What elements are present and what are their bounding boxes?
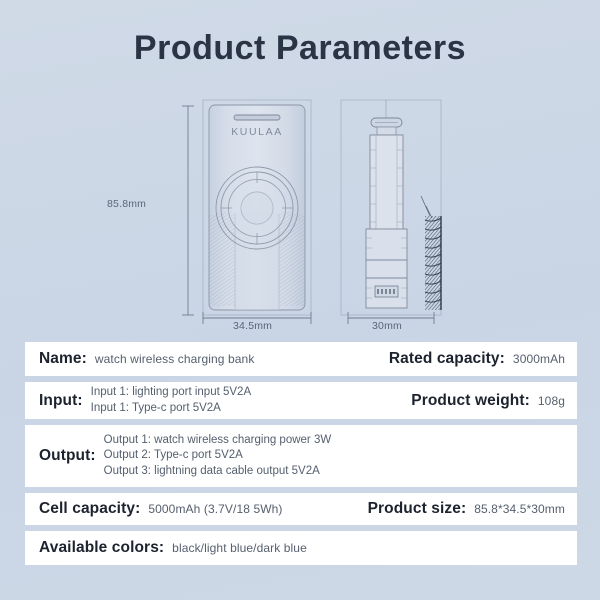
product-parameters-page: Product Parameters: [0, 0, 600, 600]
table-row: Input: Input 1: lighting port input 5V2A…: [25, 382, 577, 419]
spec-label-cell-capacity: Cell capacity:: [39, 500, 140, 518]
spec-value-cell-capacity: 5000mAh (3.7V/18 5Wh): [148, 502, 282, 516]
spec-value-available-colors: black/light blue/dark blue: [172, 541, 307, 555]
spec-cell-input: Input: Input 1: lighting port input 5V2A…: [25, 385, 334, 416]
spec-cell-available-colors: Available colors: black/light blue/dark …: [25, 539, 577, 557]
table-row: Output: Output 1: watch wireless chargin…: [25, 425, 577, 487]
product-diagram: KUULAA: [0, 88, 600, 333]
spec-value-product-size: 85.8*34.5*30mm: [474, 502, 565, 516]
height-dimension-label: 85.8mm: [107, 198, 146, 210]
spec-label-product-weight: Product weight:: [411, 392, 530, 410]
spec-value-output: Output 1: watch wireless charging power …: [104, 433, 332, 480]
spec-cell-product-weight: Product weight: 108g: [334, 392, 577, 410]
brand-logo-text: KUULAA: [231, 126, 283, 138]
spec-value-product-weight: 108g: [538, 394, 565, 408]
spec-cell-product-size: Product size: 85.8*34.5*30mm: [334, 500, 577, 518]
table-row: Name: watch wireless charging bank Rated…: [25, 342, 577, 376]
diagram-drawing: KUULAA: [0, 88, 600, 338]
spec-label-rated-capacity: Rated capacity:: [389, 350, 505, 368]
width-dimension-label: 34.5mm: [233, 320, 272, 332]
spec-cell-rated-capacity: Rated capacity: 3000mAh: [334, 350, 577, 368]
spec-table: Name: watch wireless charging bank Rated…: [25, 342, 577, 571]
spec-label-product-size: Product size:: [368, 500, 467, 518]
depth-dimension-label: 30mm: [372, 320, 402, 332]
height-dimension-line: [182, 106, 194, 315]
spec-cell-cell-capacity: Cell capacity: 5000mAh (3.7V/18 5Wh): [25, 500, 334, 518]
spec-label-output: Output:: [39, 447, 96, 465]
spec-label-available-colors: Available colors:: [39, 539, 164, 557]
spec-label-name: Name:: [39, 350, 87, 368]
spec-label-input: Input:: [39, 392, 83, 410]
table-row: Cell capacity: 5000mAh (3.7V/18 5Wh) Pro…: [25, 493, 577, 525]
spec-value-rated-capacity: 3000mAh: [513, 352, 565, 366]
spec-value-input: Input 1: lighting port input 5V2A Input …: [91, 385, 251, 416]
table-row: Available colors: black/light blue/dark …: [25, 531, 577, 565]
spec-value-name: watch wireless charging bank: [95, 352, 255, 366]
spec-cell-output: Output: Output 1: watch wireless chargin…: [25, 433, 577, 480]
spec-cell-name: Name: watch wireless charging bank: [25, 350, 334, 368]
page-title: Product Parameters: [0, 28, 600, 69]
